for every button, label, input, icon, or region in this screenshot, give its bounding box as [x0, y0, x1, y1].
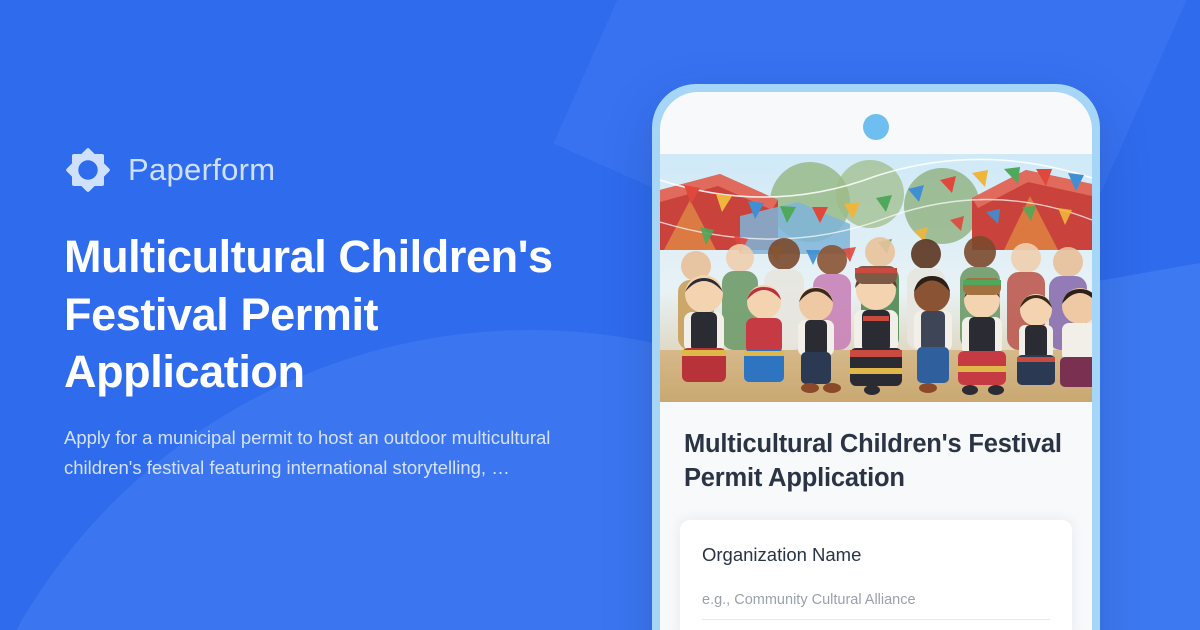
form-field-card: Organization Name e.g., Community Cultur…: [680, 520, 1072, 630]
phone-mockup: Multicultural Children's Festival Permit…: [652, 84, 1100, 630]
brand-wordmark: Paperform: [128, 152, 275, 188]
organization-name-label: Organization Name: [702, 544, 1050, 566]
form-title: Multicultural Children's Festival Permit…: [684, 428, 1068, 495]
paperform-star-logo-icon: [64, 146, 112, 194]
hero-content-column: Paperform Multicultural Children's Festi…: [64, 0, 624, 630]
phone-screen: Multicultural Children's Festival Permit…: [660, 92, 1092, 630]
form-hero-image: [660, 154, 1092, 402]
brand-logo[interactable]: Paperform: [64, 146, 624, 194]
page-description: Apply for a municipal permit to host an …: [64, 423, 554, 484]
organization-name-input[interactable]: e.g., Community Cultural Alliance: [702, 592, 1050, 620]
page-title: Multicultural Children's Festival Permit…: [64, 228, 564, 401]
camera-dot-icon: [863, 114, 889, 140]
